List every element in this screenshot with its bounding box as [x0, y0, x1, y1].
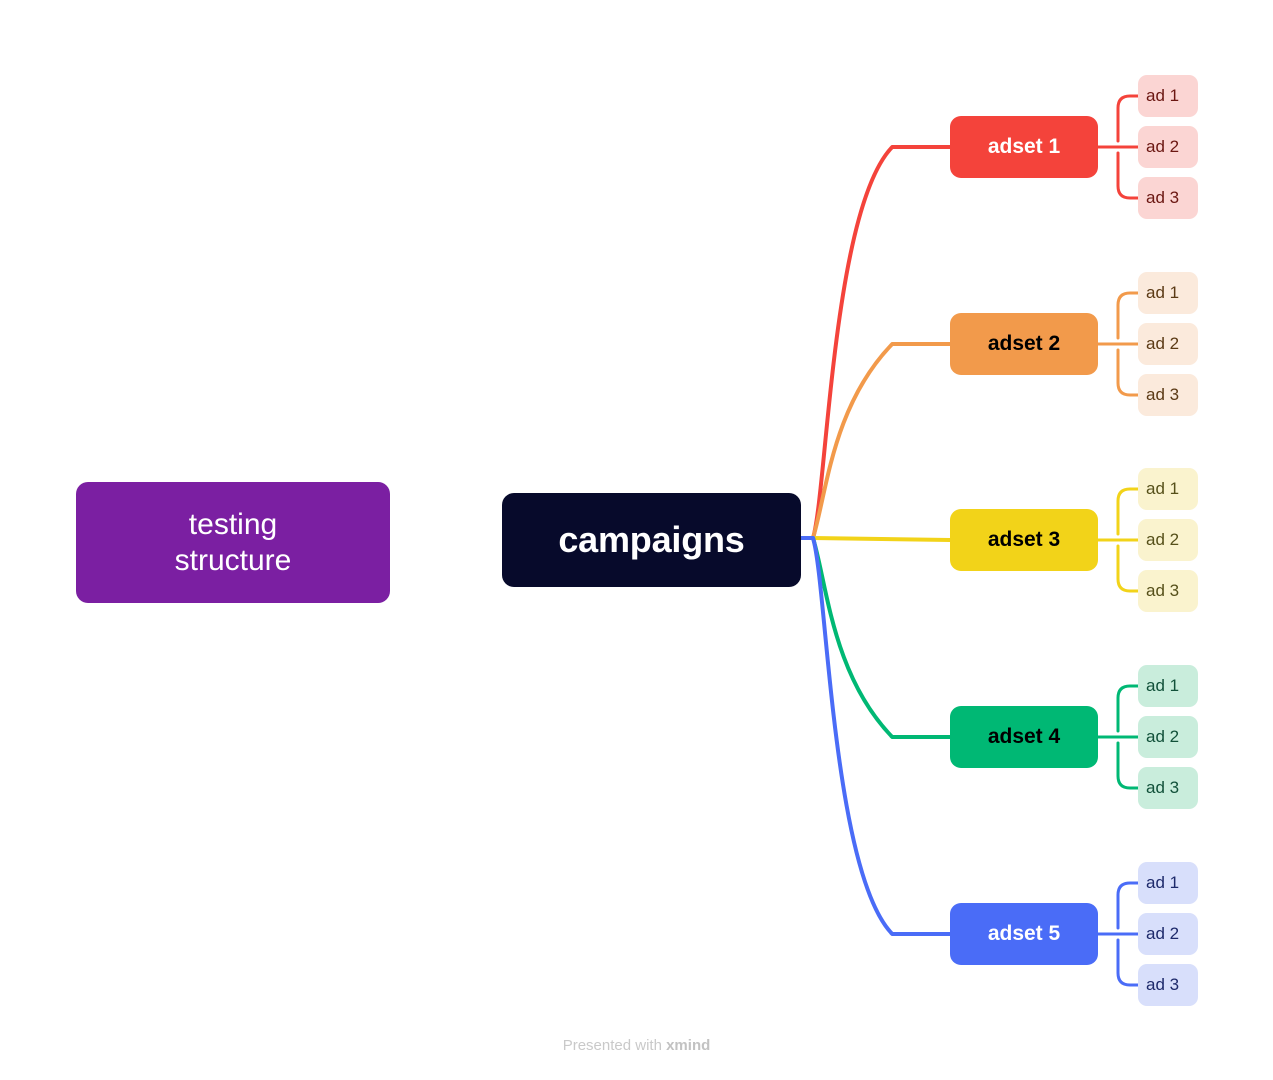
ad-node-5-3[interactable]: ad 3	[1138, 964, 1198, 1006]
ad-node-label: ad 2	[1146, 924, 1179, 944]
ad-node-1-1[interactable]: ad 1	[1138, 75, 1198, 117]
connector-line	[1118, 883, 1138, 928]
center-node-campaigns[interactable]: campaigns	[502, 493, 801, 587]
adset-node-label: adset 5	[988, 922, 1060, 947]
root-node-label: testing structure	[175, 507, 292, 578]
connector-line	[813, 538, 950, 540]
center-node-label: campaigns	[558, 519, 744, 561]
ad-node-3-1[interactable]: ad 1	[1138, 468, 1198, 510]
ad-node-label: ad 2	[1146, 137, 1179, 157]
ad-node-label: ad 1	[1146, 86, 1179, 106]
footer-prefix: Presented with	[563, 1037, 666, 1054]
ad-node-4-2[interactable]: ad 2	[1138, 716, 1198, 758]
ad-node-5-2[interactable]: ad 2	[1138, 913, 1198, 955]
root-node-testing-structure[interactable]: testing structure	[76, 482, 390, 603]
connector-line	[1118, 96, 1138, 141]
adset-node-label: adset 1	[988, 135, 1060, 160]
ad-node-label: ad 3	[1146, 778, 1179, 798]
ad-node-label: ad 3	[1146, 385, 1179, 405]
ad-node-label: ad 3	[1146, 581, 1179, 601]
ad-node-label: ad 1	[1146, 676, 1179, 696]
ad-node-5-1[interactable]: ad 1	[1138, 862, 1198, 904]
adset-node-label: adset 3	[988, 528, 1060, 553]
adset-node-label: adset 4	[988, 725, 1060, 750]
ad-node-2-2[interactable]: ad 2	[1138, 323, 1198, 365]
ad-node-label: ad 2	[1146, 727, 1179, 747]
ad-node-label: ad 1	[1146, 283, 1179, 303]
ad-node-label: ad 2	[1146, 530, 1179, 550]
ad-node-3-2[interactable]: ad 2	[1138, 519, 1198, 561]
adset-node-4[interactable]: adset 4	[950, 706, 1098, 768]
footer-brand: xmind	[666, 1037, 710, 1054]
ad-node-1-2[interactable]: ad 2	[1138, 126, 1198, 168]
connector-line	[1118, 350, 1138, 395]
connector-line	[1118, 940, 1138, 985]
footer-attribution: Presented with xmind	[0, 1037, 1273, 1054]
adset-node-5[interactable]: adset 5	[950, 903, 1098, 965]
ad-node-label: ad 3	[1146, 975, 1179, 995]
ad-node-label: ad 1	[1146, 479, 1179, 499]
ad-node-3-3[interactable]: ad 3	[1138, 570, 1198, 612]
ad-node-4-1[interactable]: ad 1	[1138, 665, 1198, 707]
ad-node-label: ad 3	[1146, 188, 1179, 208]
ad-node-1-3[interactable]: ad 3	[1138, 177, 1198, 219]
connector-line	[1118, 153, 1138, 198]
adset-node-1[interactable]: adset 1	[950, 116, 1098, 178]
adset-node-2[interactable]: adset 2	[950, 313, 1098, 375]
connector-line	[1118, 686, 1138, 731]
ad-node-label: ad 1	[1146, 873, 1179, 893]
ad-node-label: ad 2	[1146, 334, 1179, 354]
connector-line	[1118, 743, 1138, 788]
connector-line	[1118, 293, 1138, 338]
connector-line	[1118, 546, 1138, 591]
ad-node-2-3[interactable]: ad 3	[1138, 374, 1198, 416]
ad-node-4-3[interactable]: ad 3	[1138, 767, 1198, 809]
connector-line	[1118, 489, 1138, 534]
adset-node-3[interactable]: adset 3	[950, 509, 1098, 571]
adset-node-label: adset 2	[988, 332, 1060, 357]
ad-node-2-1[interactable]: ad 1	[1138, 272, 1198, 314]
